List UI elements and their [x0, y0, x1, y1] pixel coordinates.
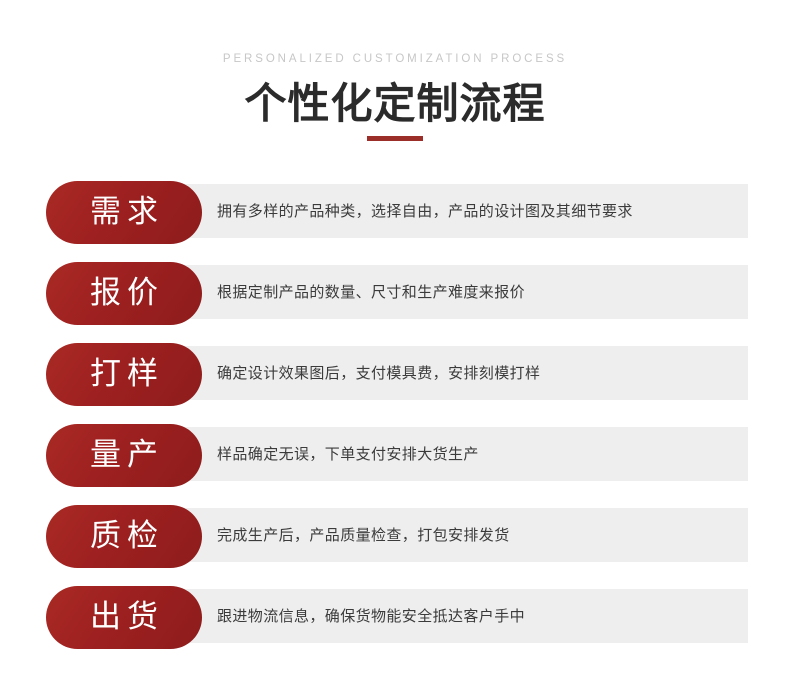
process-step-row: 拥有多样的产品种类，选择自由，产品的设计图及其细节要求 需求	[0, 181, 790, 244]
header-eyebrow-text: PERSONALIZED CUSTOMIZATION PROCESS	[0, 54, 790, 66]
step-badge-quotation[interactable]: 报价	[46, 262, 202, 325]
step-badge-mass-production[interactable]: 量产	[46, 424, 202, 487]
customization-process-page: PERSONALIZED CUSTOMIZATION PROCESS 个性化定制…	[0, 0, 790, 699]
step-description: 确定设计效果图后，支付模具费，安排刻模打样	[217, 363, 540, 384]
step-badge-label: 需求	[84, 197, 164, 228]
process-step-row: 根据定制产品的数量、尺寸和生产难度来报价 报价	[0, 262, 790, 325]
step-description: 跟进物流信息，确保货物能安全抵达客户手中	[217, 606, 525, 627]
step-badge-label: 量产	[84, 440, 164, 471]
page-title: 个性化定制流程	[0, 80, 790, 127]
step-badge-requirement[interactable]: 需求	[46, 181, 202, 244]
step-badge-sampling[interactable]: 打样	[46, 343, 202, 406]
process-step-row: 样品确定无误，下单支付安排大货生产 量产	[0, 424, 790, 487]
step-description: 根据定制产品的数量、尺寸和生产难度来报价	[217, 282, 525, 303]
process-step-row: 完成生产后，产品质量检查，打包安排发货 质检	[0, 505, 790, 568]
step-description: 完成生产后，产品质量检查，打包安排发货	[217, 525, 510, 546]
step-badge-label: 质检	[84, 521, 164, 552]
process-step-row: 确定设计效果图后，支付模具费，安排刻模打样 打样	[0, 343, 790, 406]
step-badge-label: 报价	[84, 278, 164, 309]
step-description: 样品确定无误，下单支付安排大货生产	[217, 444, 479, 465]
step-badge-quality-check[interactable]: 质检	[46, 505, 202, 568]
step-badge-shipment[interactable]: 出货	[46, 586, 202, 649]
title-underline-accent	[367, 136, 423, 141]
step-badge-label: 打样	[84, 359, 164, 390]
page-header: PERSONALIZED CUSTOMIZATION PROCESS 个性化定制…	[0, 0, 790, 141]
process-step-list: 拥有多样的产品种类，选择自由，产品的设计图及其细节要求 需求 根据定制产品的数量…	[0, 181, 790, 649]
process-step-row: 跟进物流信息，确保货物能安全抵达客户手中 出货	[0, 586, 790, 649]
step-badge-label: 出货	[84, 602, 164, 633]
step-description: 拥有多样的产品种类，选择自由，产品的设计图及其细节要求	[217, 201, 633, 222]
